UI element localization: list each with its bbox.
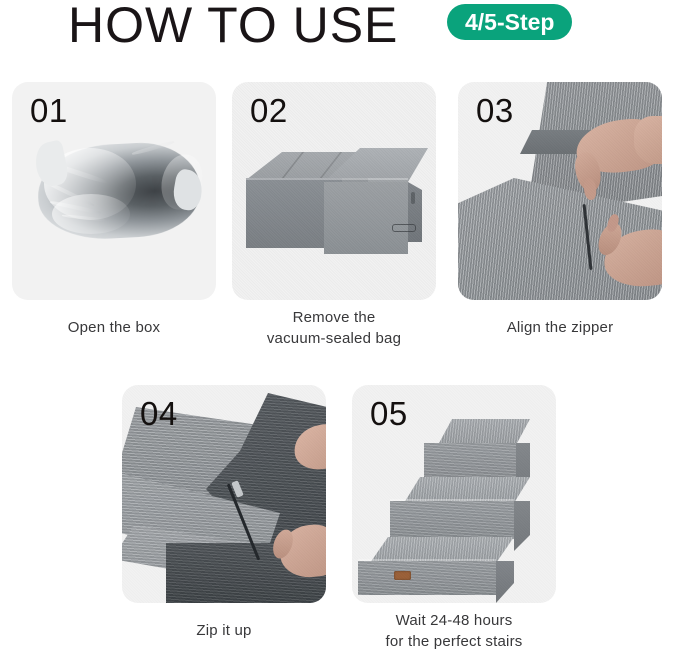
step-count-badge: 4/5-Step — [447, 4, 572, 40]
caption-line: Remove the — [232, 307, 436, 328]
caption-line: Align the zipper — [458, 317, 662, 338]
caption-line: for the perfect stairs — [352, 631, 556, 652]
caption-line: Wait 24-48 hours — [352, 610, 556, 631]
step-card-01[interactable]: 01 — [12, 82, 216, 300]
step-number-05: 05 — [370, 395, 408, 433]
step-card-03[interactable]: 03 — [458, 82, 662, 300]
step-card-04[interactable]: 04 — [122, 385, 326, 603]
step-number-02: 02 — [250, 92, 288, 130]
page-header: HOW TO USE 4/5-Step — [0, 0, 679, 64]
step-card-05[interactable]: 05 — [352, 385, 556, 603]
caption-line: Open the box — [12, 317, 216, 338]
step-number-01: 01 — [30, 92, 68, 130]
step-number-03: 03 — [476, 92, 514, 130]
step-card-02[interactable]: 02 — [232, 82, 436, 300]
caption-line: Zip it up — [122, 620, 326, 641]
step-caption-02: Remove the vacuum-sealed bag — [232, 307, 436, 349]
step-caption-04: Zip it up — [122, 620, 326, 641]
page-title: HOW TO USE — [68, 0, 398, 52]
step-caption-01: Open the box — [12, 317, 216, 338]
step-caption-05: Wait 24-48 hours for the perfect stairs — [352, 610, 556, 652]
step-number-04: 04 — [140, 395, 178, 433]
step-caption-03: Align the zipper — [458, 317, 662, 338]
caption-line: vacuum-sealed bag — [232, 328, 436, 349]
